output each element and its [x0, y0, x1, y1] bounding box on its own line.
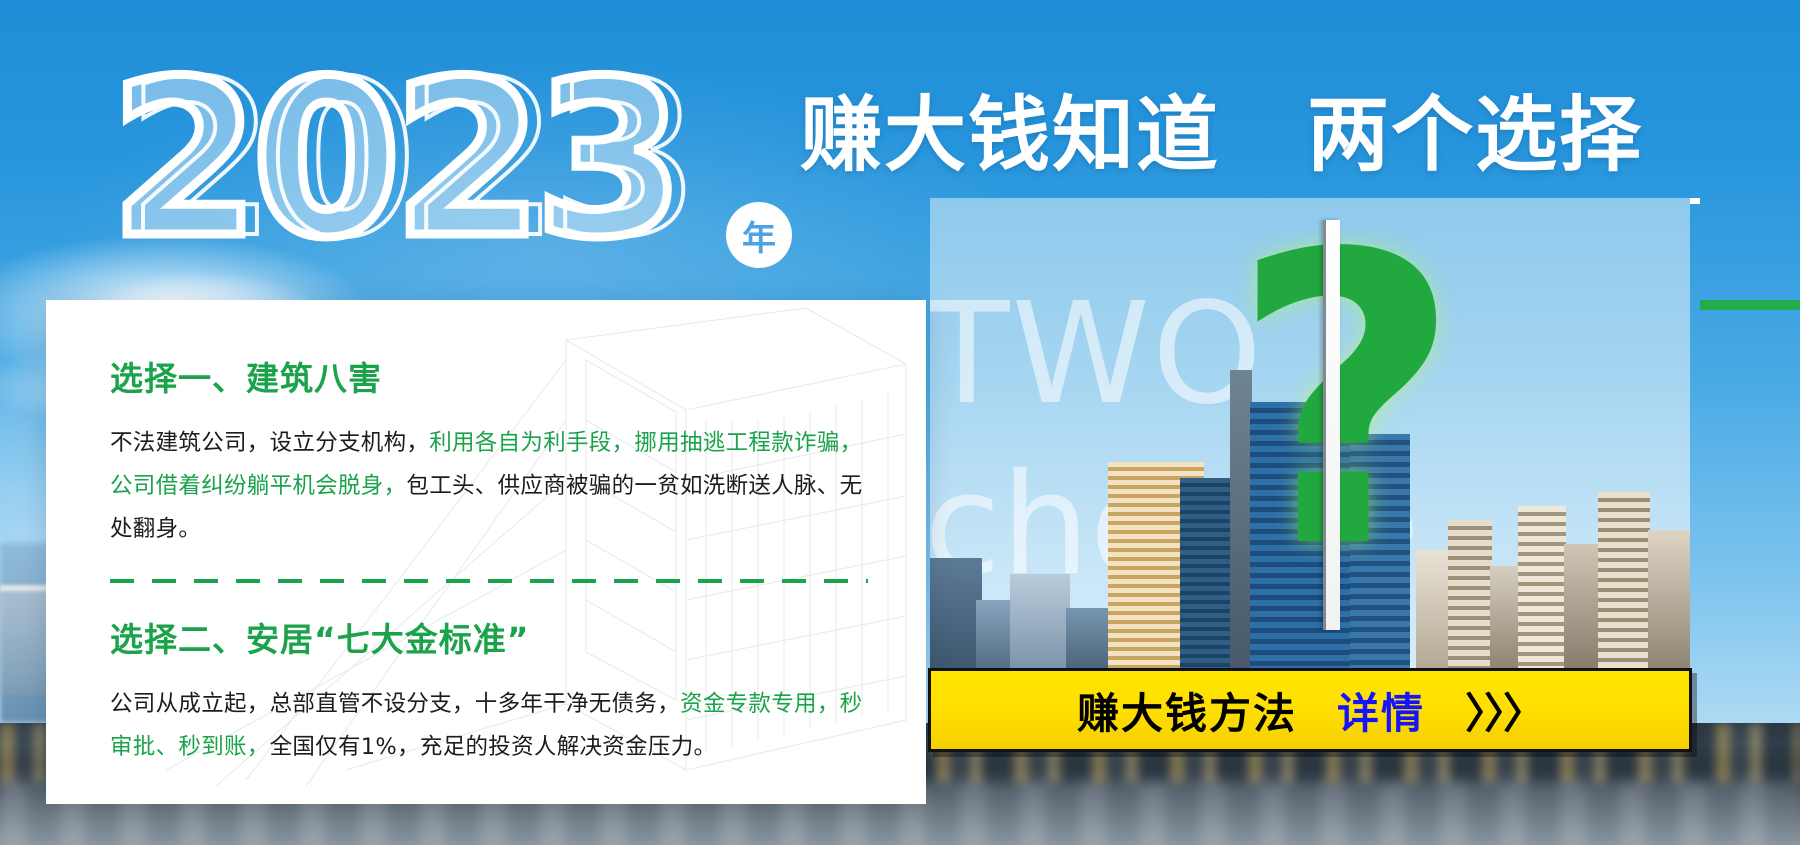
content-card: 选择一、建筑八害 不法建筑公司，设立分支机构，利用各自为利手段，挪用抽逃工程款诈…: [46, 300, 926, 788]
card-bottom-pad: [46, 788, 926, 804]
year-outline-ghost: 2023: [126, 52, 692, 267]
promo-poster: 2023 2023 年 赚大钱知道 两个选择 TWO choose: [0, 0, 1800, 845]
building: [976, 600, 1014, 670]
chevron-right-icon: 〉〉〉: [1465, 680, 1543, 741]
watermark-line-top: TWO: [930, 273, 1264, 436]
body-text-highlight: 利用各自为利手段，挪用抽逃工程款: [429, 430, 794, 456]
cta-button[interactable]: 赚大钱方法 详情 〉〉〉: [928, 668, 1692, 752]
headline-part-b: 两个选择: [1307, 88, 1643, 183]
building: [1066, 608, 1112, 670]
building: [930, 558, 982, 670]
section-body-one: 不法建筑公司，设立分支机构，利用各自为利手段，挪用抽逃工程款诈骗，公司借着纠纷躺…: [110, 422, 868, 551]
question-mark-graphic: ?: [1230, 204, 1462, 604]
building: [1564, 544, 1600, 670]
building: [1648, 530, 1690, 670]
building: [1010, 574, 1070, 670]
body-text-highlight: 资金专款专: [680, 691, 794, 717]
section-body-two: 公司从成立起，总部直管不设分支，十多年干净无债务，资金专款专用，秒审批、秒到账，…: [110, 683, 868, 769]
city-photo-panel: TWO choose ?: [930, 198, 1690, 670]
body-text-plain: 不法建筑公司，设立分支机构，: [110, 430, 429, 456]
headline-part-a: 赚大钱知道: [800, 88, 1220, 183]
cta-link-label[interactable]: 详情: [1337, 680, 1425, 741]
cta-main-label: 赚大钱方法: [1077, 680, 1297, 741]
year-unit-badge: 年: [726, 202, 792, 268]
body-text-plain: 全国仅有1%，充足的投资人解决资金压力。: [270, 734, 717, 760]
building: [1598, 492, 1650, 670]
section-divider: [110, 579, 868, 583]
section-title-two: 选择二、安居“七大金标准”: [110, 613, 868, 661]
panel-divider-line: [1323, 220, 1326, 630]
building: [1518, 506, 1566, 670]
building: [1490, 566, 1520, 670]
page-title: 赚大钱知道 两个选择: [800, 68, 1643, 187]
section-title-one: 选择一、建筑八害: [110, 352, 868, 400]
building: [1180, 478, 1232, 670]
body-text-plain: 公司从成立起，总部直管不设分支，十多年干净无债务，: [110, 691, 680, 717]
green-accent-bar-right: [1700, 300, 1800, 310]
body-text-plain: 包工头、供应商被骗的一贫如洗: [406, 473, 725, 499]
